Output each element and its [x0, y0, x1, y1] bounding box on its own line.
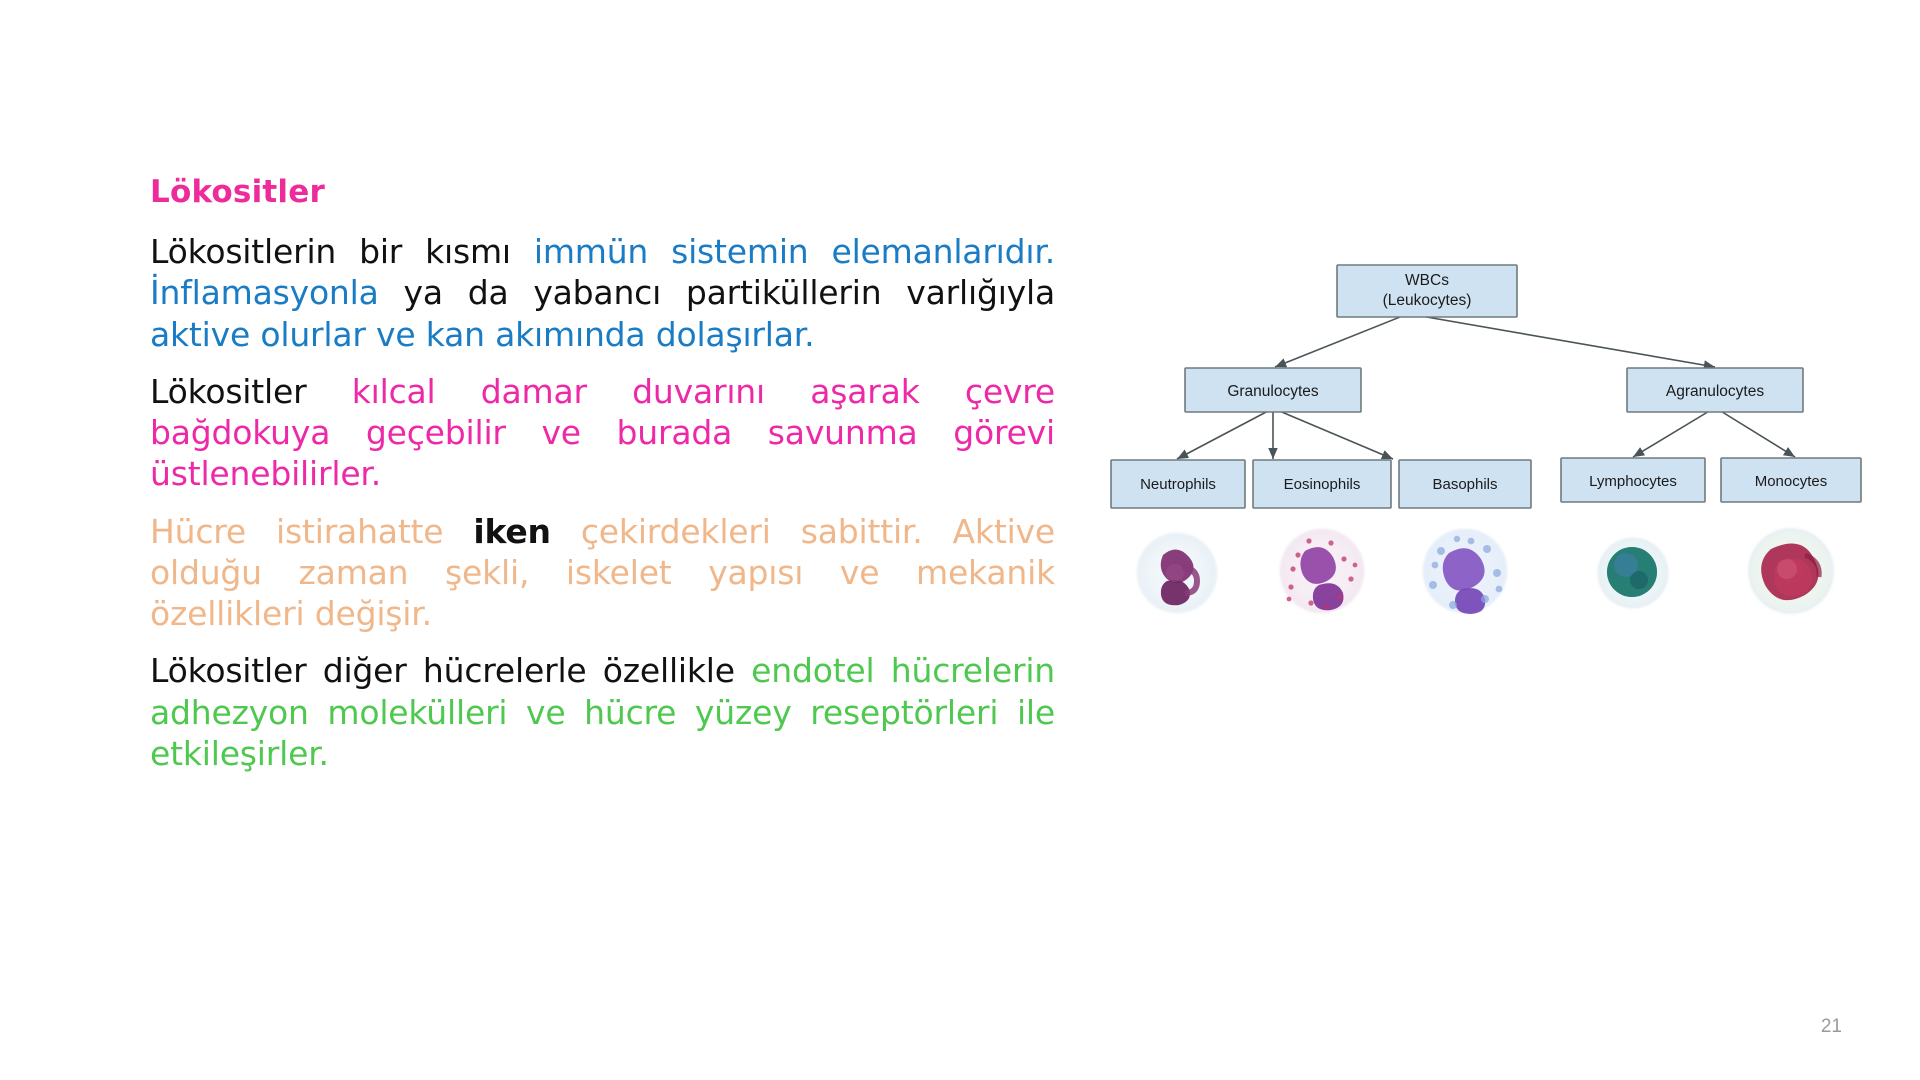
node-label-basophils: Basophils	[1432, 476, 1497, 493]
edge-agranulo-monocytes	[1719, 410, 1795, 457]
text-run: Lökositler diğer hücrelerle özellikle	[150, 651, 751, 690]
text-run: ya da yabancı partiküllerin varlığıyla	[404, 273, 1056, 312]
paragraph-2: Lökositler kılcal damar duvarını aşarak …	[150, 371, 1055, 495]
slide-canvas: Lökositler Lökositlerin bir kısmı immün …	[0, 0, 1920, 1080]
node-label-wbcs-line2: (Leukocytes)	[1383, 292, 1472, 309]
diagram-node-monocytes: Monocytes	[1721, 458, 1861, 502]
node-label-wbcs-line1: WBCs	[1405, 272, 1449, 289]
wbc-classification-diagram: WBCs (Leukocytes) Granulocytes Agranuloc…	[1105, 255, 1875, 695]
edge-wbc-granulocytes	[1275, 315, 1405, 367]
text-run-emphasis: iken	[473, 512, 550, 551]
edge-granulo-basophils	[1277, 410, 1393, 459]
paragraph-3: Hücre istirahatte iken çekirdekleri sabi…	[150, 511, 1055, 635]
node-label-neutrophils: Neutrophils	[1140, 476, 1216, 493]
diagram-node-eosinophils: Eosinophils	[1253, 460, 1391, 508]
paragraph-4: Lökositler diğer hücrelerle özellikle en…	[150, 650, 1055, 774]
node-label-agranulocytes: Agranulocytes	[1666, 383, 1764, 400]
cell-image-neutrophil	[1134, 530, 1220, 616]
node-label-eosinophils: Eosinophils	[1284, 476, 1361, 493]
diagram-node-wbcs: WBCs (Leukocytes)	[1337, 265, 1517, 317]
diagram-node-lymphocytes: Lymphocytes	[1561, 458, 1705, 502]
cell-image-lymphocyte	[1595, 535, 1671, 611]
diagram-node-agranulocytes: Agranulocytes	[1627, 368, 1803, 412]
text-run: Lökositler	[150, 372, 352, 411]
cell-image-monocyte	[1745, 525, 1837, 617]
node-label-granulocytes: Granulocytes	[1227, 383, 1319, 400]
edge-granulo-neutrophils	[1177, 410, 1270, 459]
text-content-column: Lökositler Lökositlerin bir kısmı immün …	[150, 175, 1055, 774]
cell-image-eosinophil	[1277, 526, 1367, 616]
page-title: Lökositler	[150, 175, 1055, 209]
node-label-lymphocytes: Lymphocytes	[1589, 473, 1677, 490]
text-run: Hücre istirahatte	[150, 512, 473, 551]
paragraph-1: Lökositlerin bir kısmı immün sistemin el…	[150, 231, 1055, 355]
edge-wbc-agranulocytes	[1415, 315, 1715, 367]
diagram-node-granulocytes: Granulocytes	[1185, 368, 1361, 412]
diagram-node-basophils: Basophils	[1399, 460, 1531, 508]
text-run: aktive olurlar ve kan akımında dolaşırla…	[150, 315, 814, 354]
page-number: 21	[1821, 1016, 1842, 1038]
diagram-node-neutrophils: Neutrophils	[1111, 460, 1245, 508]
edge-agranulo-lymphocytes	[1633, 410, 1711, 457]
node-label-monocytes: Monocytes	[1755, 473, 1828, 490]
text-run: Lökositlerin bir kısmı	[150, 232, 534, 271]
cell-image-basophil	[1420, 526, 1510, 616]
